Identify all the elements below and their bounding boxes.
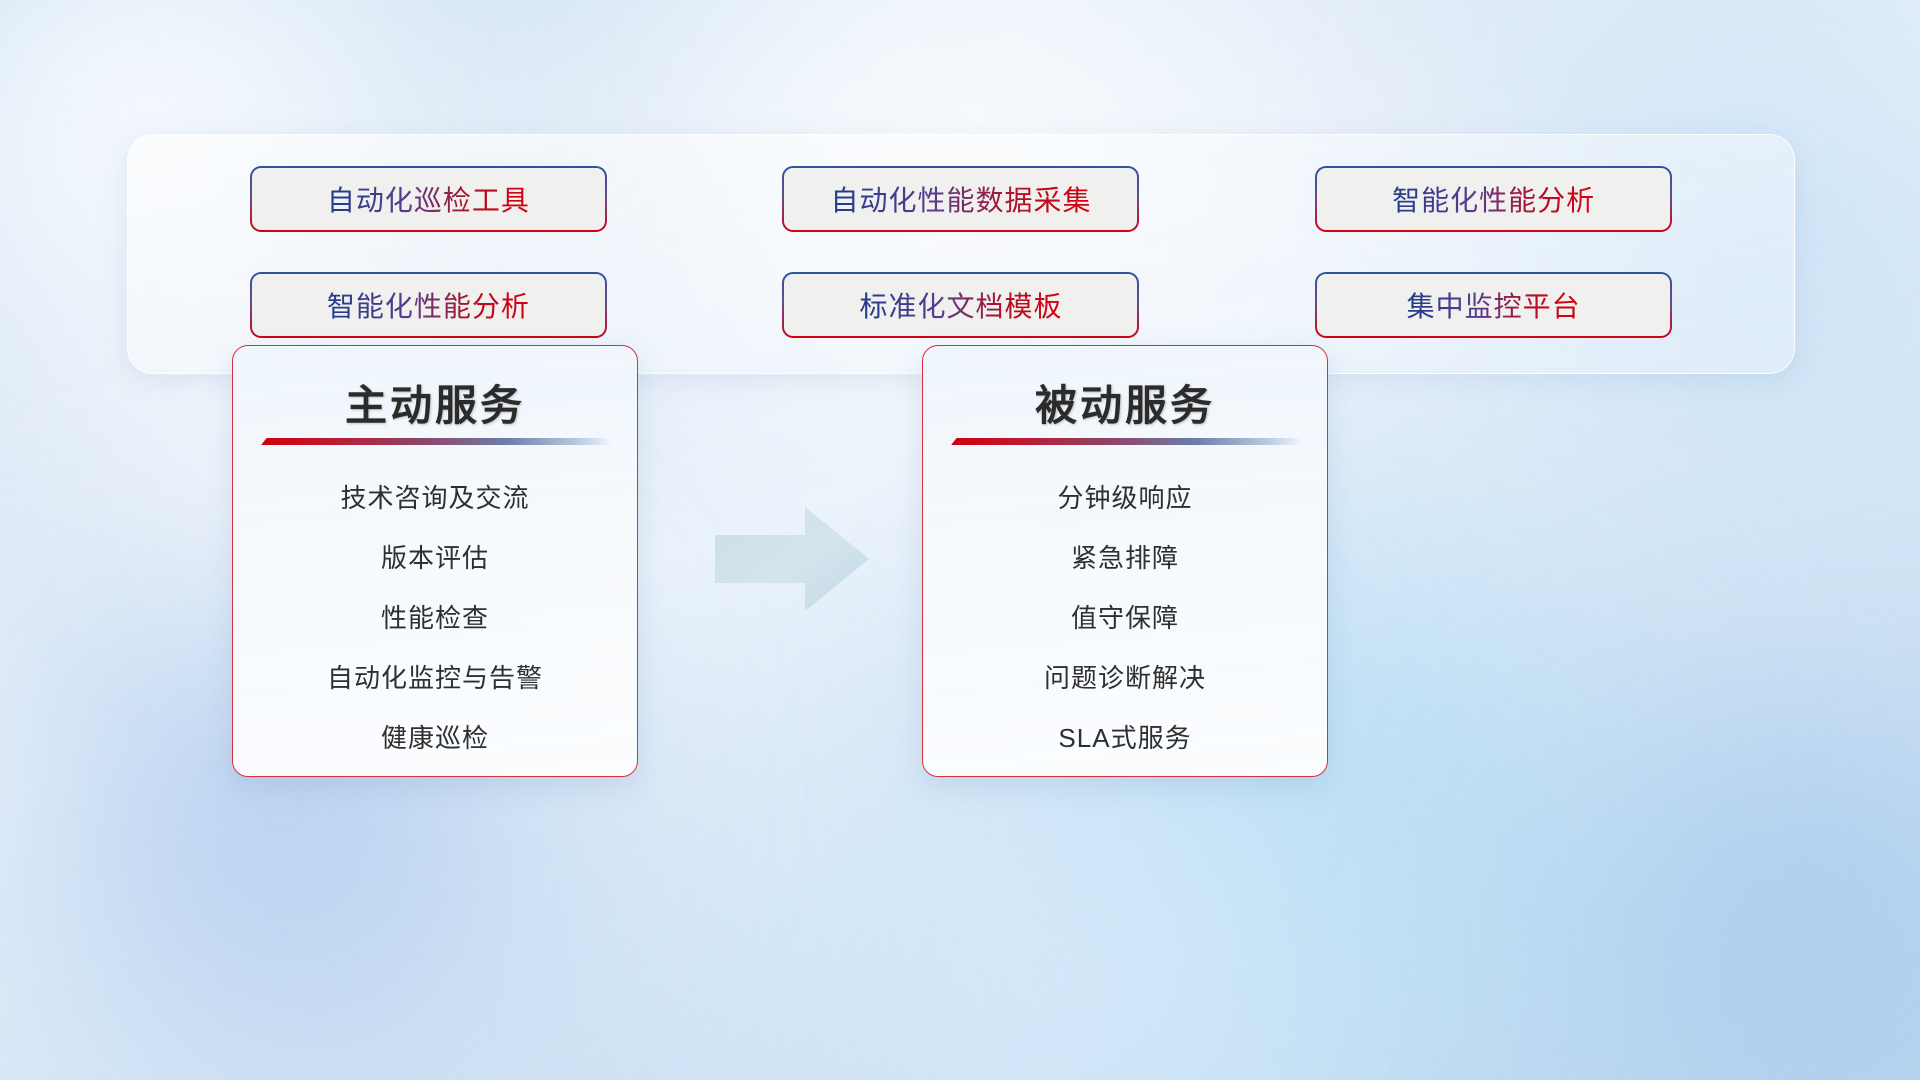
pill-inner: 自动化巡检工具 xyxy=(252,168,605,230)
capability-pill[interactable]: 集中监控平台 xyxy=(1315,272,1672,338)
card-list-item: 紧急排障 xyxy=(1071,538,1179,575)
capability-pill[interactable]: 智能化性能分析 xyxy=(1315,166,1672,232)
capability-pill-label: 自动化性能数据采集 xyxy=(830,179,1091,219)
card-list-item: 问题诊断解决 xyxy=(1044,658,1206,695)
card-title: 被动服务 xyxy=(923,372,1327,433)
capability-pill[interactable]: 自动化巡检工具 xyxy=(250,166,607,232)
card-list-item: 健康巡检 xyxy=(381,718,489,755)
capability-pill[interactable]: 标准化文档模板 xyxy=(782,272,1139,338)
card-list-item: SLA式服务 xyxy=(1058,718,1191,755)
capability-pill-panel: 自动化巡检工具 自动化性能数据采集 智能化性能分析 智能化性能分析 xyxy=(127,134,1795,374)
capability-pill-label: 自动化巡检工具 xyxy=(327,179,530,219)
pill-inner: 标准化文档模板 xyxy=(784,274,1137,336)
card-list-item: 性能检查 xyxy=(381,598,489,635)
service-card-proactive[interactable]: 主动服务 技术咨询及交流 版本评估 性能检查 自动化监控与告警 健康巡检 xyxy=(232,345,638,777)
card-list-item: 技术咨询及交流 xyxy=(340,478,529,515)
card-item-list: 分钟级响应 紧急排障 值守保障 问题诊断解决 SLA式服务 xyxy=(923,468,1327,755)
capability-pill-label: 智能化性能分析 xyxy=(327,285,530,325)
card-item-list: 技术咨询及交流 版本评估 性能检查 自动化监控与告警 健康巡检 xyxy=(233,468,637,755)
service-card-reactive[interactable]: 被动服务 分钟级响应 紧急排障 值守保障 问题诊断解决 SLA式服务 xyxy=(922,345,1328,777)
right-arrow-icon xyxy=(713,505,871,613)
card-list-item: 自动化监控与告警 xyxy=(327,658,543,695)
pill-inner: 智能化性能分析 xyxy=(252,274,605,336)
pill-inner: 集中监控平台 xyxy=(1317,274,1670,336)
capability-pill[interactable]: 智能化性能分析 xyxy=(250,272,607,338)
pill-grid: 自动化巡检工具 自动化性能数据采集 智能化性能分析 智能化性能分析 xyxy=(128,135,1794,373)
card-list-item: 值守保障 xyxy=(1071,598,1179,635)
capability-pill-label: 标准化文档模板 xyxy=(859,285,1062,325)
pill-inner: 智能化性能分析 xyxy=(1317,168,1670,230)
slide-canvas: 自动化巡检工具 自动化性能数据采集 智能化性能分析 智能化性能分析 xyxy=(0,0,1920,1080)
card-divider xyxy=(261,438,613,445)
pill-inner: 自动化性能数据采集 xyxy=(784,168,1137,230)
capability-pill[interactable]: 自动化性能数据采集 xyxy=(782,166,1139,232)
card-list-item: 分钟级响应 xyxy=(1057,478,1192,515)
capability-pill-label: 智能化性能分析 xyxy=(1392,179,1595,219)
card-list-item: 版本评估 xyxy=(381,538,489,575)
capability-pill-label: 集中监控平台 xyxy=(1407,285,1581,325)
card-title: 主动服务 xyxy=(233,372,637,433)
card-divider xyxy=(951,438,1303,445)
